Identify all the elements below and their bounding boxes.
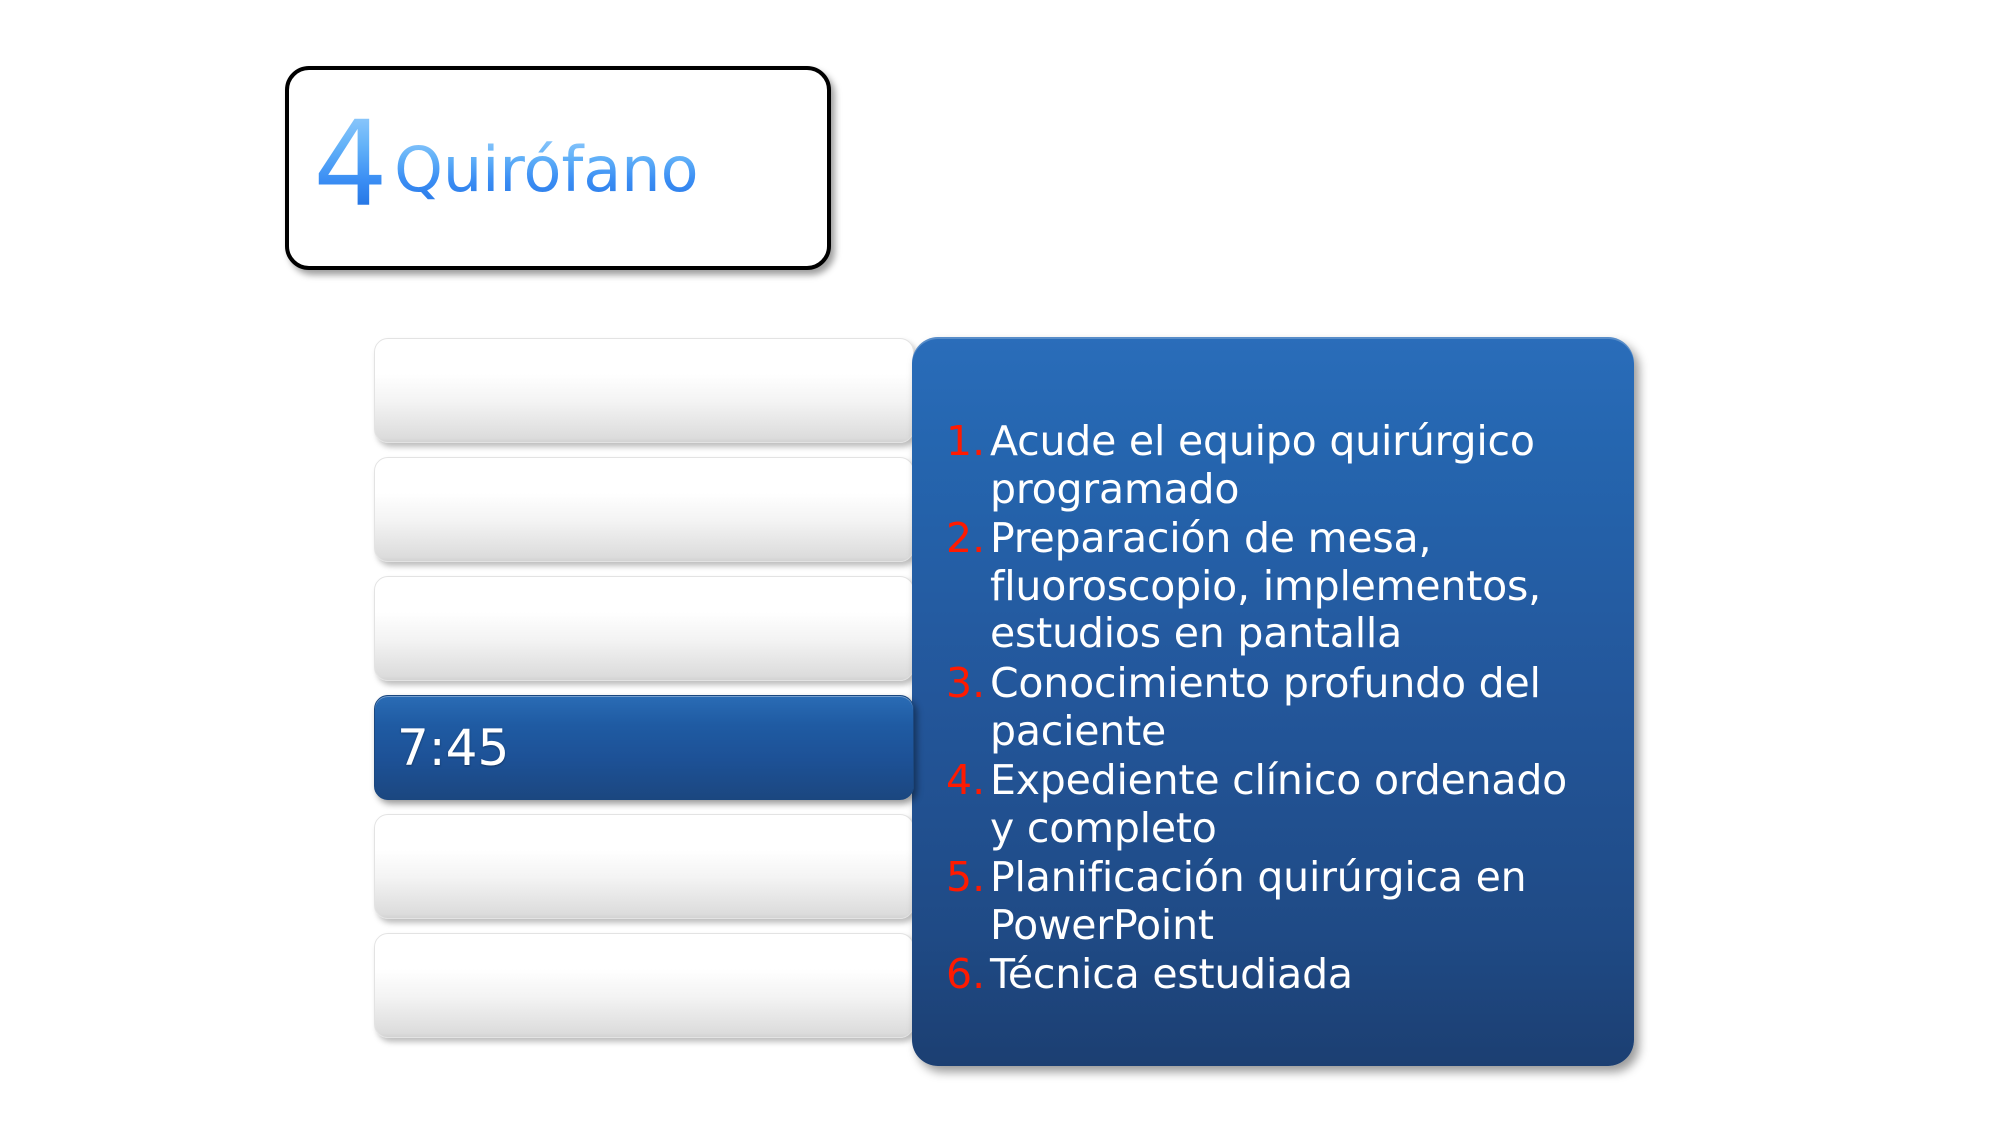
list-item-number: 3.	[946, 660, 990, 708]
slide-number: 4	[313, 114, 388, 214]
list-item: 2.Preparación de mesa, fluoroscopio, imp…	[946, 515, 1600, 658]
slide-title-chip: 4 Quirófano	[285, 66, 831, 270]
timeline-bar[interactable]	[374, 457, 914, 562]
timeline-bar[interactable]	[374, 933, 914, 1038]
list-item-number: 5.	[946, 854, 990, 902]
list-item: 4.Expediente clínico ordenado y completo	[946, 757, 1600, 852]
timeline-bar[interactable]	[374, 338, 914, 443]
timeline-bar[interactable]	[374, 814, 914, 919]
list-item: 6.Técnica estudiada	[946, 951, 1600, 999]
detail-list: 1.Acude el equipo quirúrgico programado2…	[946, 418, 1600, 1001]
list-item-number: 6.	[946, 951, 990, 999]
timeline-bar-active[interactable]: 7:45	[374, 695, 914, 800]
list-item-number: 4.	[946, 757, 990, 805]
timeline-bar[interactable]	[374, 576, 914, 681]
list-item: 1.Acude el equipo quirúrgico programado	[946, 418, 1600, 513]
list-item-text: Planificación quirúrgica en PowerPoint	[990, 854, 1600, 949]
list-item-text: Acude el equipo quirúrgico programado	[990, 418, 1600, 513]
list-item: 5.Planificación quirúrgica en PowerPoint	[946, 854, 1600, 949]
list-item-text: Preparación de mesa, fluoroscopio, imple…	[990, 515, 1600, 658]
list-item-text: Conocimiento profundo del paciente	[990, 660, 1600, 755]
detail-panel: 1.Acude el equipo quirúrgico programado2…	[912, 337, 1634, 1066]
list-item: 3.Conocimiento profundo del paciente	[946, 660, 1600, 755]
list-item-text: Expediente clínico ordenado y completo	[990, 757, 1600, 852]
list-item-number: 2.	[946, 515, 990, 563]
timeline-bar-label: 7:45	[397, 723, 509, 773]
list-item-number: 1.	[946, 418, 990, 466]
list-item-text: Técnica estudiada	[990, 951, 1600, 999]
page-title: Quirófano	[388, 137, 698, 202]
